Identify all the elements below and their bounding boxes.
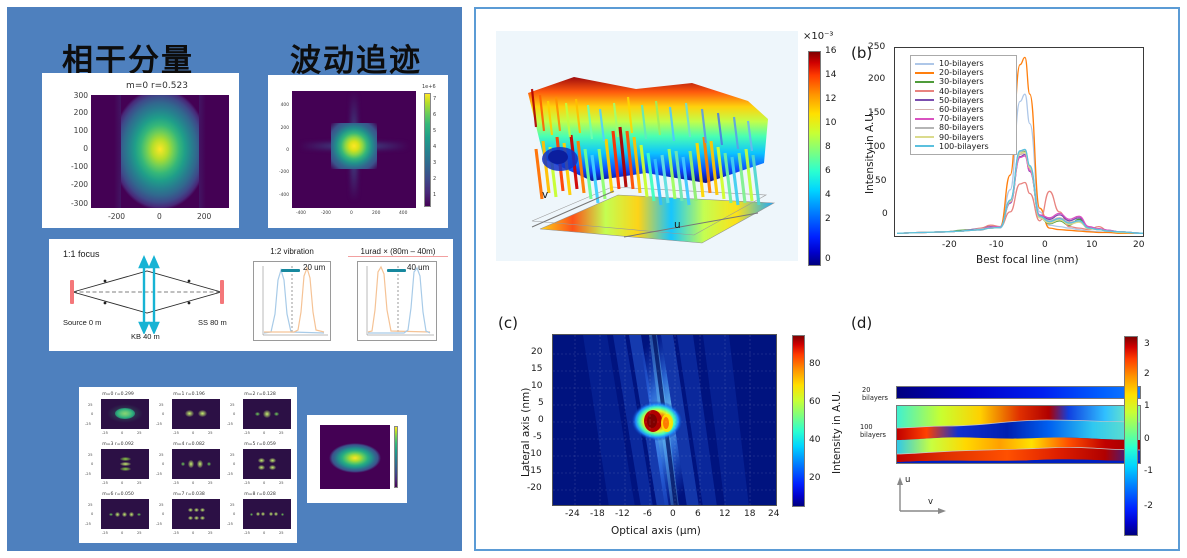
panel-c-cbtick-60: 60 [809,397,820,407]
panel-c-cbtick-40: 40 [809,435,820,445]
mode-title-8: m=8 r=0.028 [227,492,293,497]
panel-c-xtick-n18: -18 [590,509,605,519]
panel-b-legend-item: 70-bilayers [915,114,1012,123]
panel-a-colorbar [808,51,821,266]
panel-b-legend: 10-bilayers20-bilayers30-bilayers40-bila… [910,55,1017,155]
panel-d-cbtick-0: 0 [1144,434,1150,444]
panel-a-cbtick-4: 4 [825,190,831,200]
panel-b-series-line [897,149,1143,233]
mode-cell-7: m=7 r=0.038 25 0 -25 -25 0 25 [156,492,222,497]
coh-ytick-n300: -300 [56,199,88,208]
coh-xtick-200: 200 [197,212,211,221]
panel-b-xtick-20: 20 [1133,240,1144,250]
panel-a-cbtick-6: 6 [825,166,831,176]
coherent-mode-plot-card: m=0 r=0.523 300 200 100 0 -100 -200 -300… [42,73,239,228]
panel-b-series-line [897,150,1143,233]
legend-label: 100-bilayers [939,142,989,151]
source-label: Source 0 m [63,318,101,327]
mode-cell-8: m=8 r=0.028 25 0 -25 -25 0 25 [227,492,293,497]
panel-c-cbtick-20: 20 [809,473,820,483]
mode-heatmap-7 [172,499,220,529]
mode-heatmap-8 [243,499,291,529]
panel-c-ytick-5: 5 [538,398,544,408]
panel-c-xtick-24: 24 [768,509,779,519]
mode-heatmap-2 [243,399,291,429]
panel-b-legend-item: 30-bilayers [915,77,1012,86]
panel-c-ylabel: Lateral axis (nm) [520,388,532,477]
legend-label: 90-bilayers [939,133,984,142]
mode-title-2: m=2 r=0.128 [227,392,293,397]
coh-ytick-n100: -100 [56,162,88,171]
panel-b-ytick-0: 0 [882,209,888,219]
coh-xtick-0: 0 [157,212,162,221]
wave-ytick-n200: -200 [270,170,289,175]
mode-title-3: m=3 r=0.092 [85,442,151,447]
vibration-2-plot [357,261,437,341]
wave-colorbar-exponent: 1e+6 [422,84,436,90]
panel-b-legend-item: 10-bilayers [915,59,1012,68]
panel-c-ytick-n20: -20 [527,483,542,493]
legend-swatch [915,81,934,83]
coh-ytick-100: 100 [60,126,88,135]
coherent-mode-grid-card: m=0 r=0.299 25 0 -25 -25 0 25 m=1 r=0.19… [79,387,297,543]
panel-c-label: (c) [498,314,518,332]
title-wave-tracing: 波动追迹 [290,35,422,80]
panel-b-series-line [897,183,1143,234]
panel-b-xtick-n20: -20 [942,240,957,250]
vibration-1-title: 1:2 vibration [249,247,335,256]
mode-title-0: m=0 r=0.299 [85,392,151,397]
panel-c-xtick-0: 0 [670,509,676,519]
legend-swatch [915,72,934,74]
panel-a-cbtick-16: 16 [825,46,836,56]
wave-xtick-n400: -400 [296,211,306,216]
legend-swatch [915,127,934,129]
coh-ytick-300: 300 [60,91,88,100]
panel-c-xlabel: Optical axis (μm) [611,525,701,537]
legend-label: 50-bilayers [939,96,984,105]
wave-tracing-heatmap [292,91,416,208]
panel-b-series-line [897,152,1143,233]
ss-label: SS 80 m [198,318,227,327]
mode-cell-0: m=0 r=0.299 25 0 -25 -25 0 25 [85,392,151,397]
panel-c-colorbar-label: Intensity in A.U. [831,391,843,474]
panel-b-ylabel: Intensity in A.U. [864,111,876,194]
wave-ytick-200: 200 [270,126,289,131]
slide-canvas: 相干分量 波动追迹 m=0 r=0.523 300 200 100 0 -100… [0,0,1187,558]
wave-cbtick-1: 1 [433,192,436,198]
mode-title-4: m=4 r=0.082 [156,442,222,447]
panel-a-cbtick-12: 12 [825,94,836,104]
wave-cbtick-5: 5 [433,128,436,134]
mode-cell-5: m=5 r=0.059 25 0 -25 -25 0 25 [227,442,293,447]
panel-c-heatmap [552,334,777,506]
legend-label: 80-bilayers [939,123,984,132]
mode-heatmap-0 [101,399,149,429]
legend-label: 60-bilayers [939,105,984,114]
panel-b-series-line [897,155,1143,234]
panel-d-axis-u-label: u [905,475,910,485]
panel-c-ytick-0: 0 [538,415,544,425]
focal-spot-colorbar [394,426,398,488]
source-marker [70,280,74,304]
wave-colorbar [424,93,431,207]
mode-heatmap-3 [101,449,149,479]
panel-b-legend-item: 20-bilayers [915,68,1012,77]
panel-b-xtick-0: 0 [1042,240,1048,250]
panel-d-row-label-20: 20 bilayers [862,387,888,402]
legend-label: 10-bilayers [939,59,984,68]
vibration-1-plot [253,261,331,341]
wave-ytick-400: 400 [270,103,289,108]
vibration-2-scale-bar [387,269,406,272]
coh-ytick-0: 0 [60,144,88,153]
mode-cell-2: m=2 r=0.128 25 0 -25 -25 0 25 [227,392,293,397]
vibration-1-annotation: 20 um [303,263,325,272]
mode-cell-4: m=4 r=0.082 25 0 -25 -25 0 25 [156,442,222,447]
mode-cell-1: m=1 r=0.196 25 0 -25 -25 0 25 [156,392,222,397]
panel-d-cbtick-2: 2 [1144,369,1150,379]
legend-label: 20-bilayers [939,68,984,77]
vibration-1-scale-bar [281,269,300,272]
wave-ytick-n400: -400 [270,193,289,198]
panel-a-surface-plot: v u [496,31,798,261]
focus-vibration-card: 1:1 focus Source [49,239,453,351]
panel-b-legend-item: 100-bilayers [915,142,1012,151]
panel-b-legend-item: 50-bilayers [915,96,1012,105]
panel-c-xtick-n24: -24 [565,509,580,519]
coh-ytick-200: 200 [60,108,88,117]
wave-xtick-200: 200 [372,211,380,216]
coh-ytick-n200: -200 [56,180,88,189]
panel-b-ytick-250: 250 [868,42,885,52]
mode-heatmap-5 [243,449,291,479]
mode-cell-6: m=6 r=0.050 25 0 -25 -25 0 25 [85,492,151,497]
panel-a-cbtick-2: 2 [825,214,831,224]
coh-xtick-n200: -200 [108,212,125,221]
ss-marker [220,280,224,304]
mode-heatmap-6 [101,499,149,529]
legend-label: 70-bilayers [939,114,984,123]
panel-c-ytick-10: 10 [531,381,542,391]
mode-title-6: m=6 r=0.050 [85,492,151,497]
panel-a-cbtick-14: 14 [825,70,836,80]
panel-d-colorbar [1124,336,1138,536]
panel-a-axis-u-label: u [674,219,681,231]
coherent-mode-heatmap [91,95,229,208]
panel-b-legend-item: 80-bilayers [915,123,1012,132]
panel-d-row-label-100: 100 bilayers [860,424,886,439]
left-blue-panel: 相干分量 波动追迹 m=0 r=0.523 300 200 100 0 -100… [7,7,462,551]
legend-swatch [915,99,934,101]
panel-d-cbtick-3: 3 [1144,339,1150,349]
panel-d-cbtick-n2: -2 [1144,501,1153,511]
vibration-2-title: 1urad × (80m – 40m) [348,247,448,257]
panel-d-cbtick-n1: -1 [1144,466,1153,476]
panel-b-xlabel: Best focal line (nm) [976,254,1079,266]
wave-cbtick-6: 6 [433,112,436,118]
focus-schematic: 1:1 focus Source [59,246,239,344]
panel-c-colorbar [792,335,805,507]
panel-a-colorbar-exponent: ×10⁻³ [803,31,833,42]
legend-swatch [915,136,934,138]
focal-spot-heatmap [320,425,390,489]
legend-label: 30-bilayers [939,77,984,86]
panel-b-xtick-10: 10 [1086,240,1097,250]
panel-d-cbtick-1: 1 [1144,401,1150,411]
mode-cell-3: m=3 r=0.092 25 0 -25 -25 0 25 [85,442,151,447]
panel-d-axis-v-label: v [928,497,933,507]
panel-c-xtick-6: 6 [695,509,701,519]
legend-label: 40-bilayers [939,87,984,96]
panel-d-strip-100-bilayers [896,405,1141,464]
panel-c-xtick-12: 12 [719,509,730,519]
mode-heatmap-4 [172,449,220,479]
panel-a-cbtick-0: 0 [825,254,831,264]
panel-b-series-line [897,156,1143,233]
panel-c-ytick-20: 20 [531,347,542,357]
panel-b-legend-item: 90-bilayers [915,133,1012,142]
panel-b-series-line [897,152,1143,234]
mode-title-7: m=7 r=0.038 [156,492,222,497]
panel-c-ytick-n5: -5 [533,432,542,442]
legend-swatch [915,118,934,120]
panel-c-xtick-n6: -6 [643,509,652,519]
mode-title-5: m=5 r=0.059 [227,442,293,447]
wave-cbtick-2: 2 [433,176,436,182]
panel-c-cbtick-80: 80 [809,359,820,369]
panel-a-axis-v-label: v [542,189,548,201]
wave-tracing-plot-card: 400 200 0 -200 -400 -400 -200 0 200 400 … [268,75,448,228]
wave-cbtick-4: 4 [433,144,436,150]
kb-label: KB 40 m [131,332,160,341]
legend-swatch [915,90,934,92]
panel-c-xtick-18: 18 [744,509,755,519]
mode-heatmap-1 [172,399,220,429]
wave-xtick-400: 400 [399,211,407,216]
panel-a-cbtick-10: 10 [825,118,836,128]
coherent-plot-title: m=0 r=0.523 [82,81,232,91]
wave-xtick-0: 0 [350,211,353,216]
panel-c-ytick-15: 15 [531,364,542,374]
panel-a-cbtick-8: 8 [825,142,831,152]
panel-d-strip-20-bilayers [896,386,1141,399]
panel-b-legend-item: 60-bilayers [915,105,1012,114]
kb-arrows-svg [135,254,175,334]
panel-b-series-line [897,153,1143,233]
wave-xtick-n200: -200 [321,211,331,216]
panel-d-label: (d) [851,314,872,332]
wave-ytick-0: 0 [270,148,289,153]
panel-c-xtick-n12: -12 [615,509,630,519]
wave-cbtick-3: 3 [433,160,436,166]
vibration-2-annotation: 40 um [407,263,429,272]
mode-title-1: m=1 r=0.196 [156,392,222,397]
panel-b-ytick-50: 50 [875,176,886,186]
legend-swatch [915,109,934,111]
legend-swatch [915,63,934,65]
right-figure-panel: (a) [474,7,1180,551]
wave-cbtick-7: 7 [433,96,436,102]
panel-b-legend-item: 40-bilayers [915,87,1012,96]
focal-spot-card [307,415,407,503]
panel-b-ytick-200: 200 [868,74,885,84]
legend-swatch [915,145,934,147]
panel-b-xtick-n10: -10 [989,240,1004,250]
